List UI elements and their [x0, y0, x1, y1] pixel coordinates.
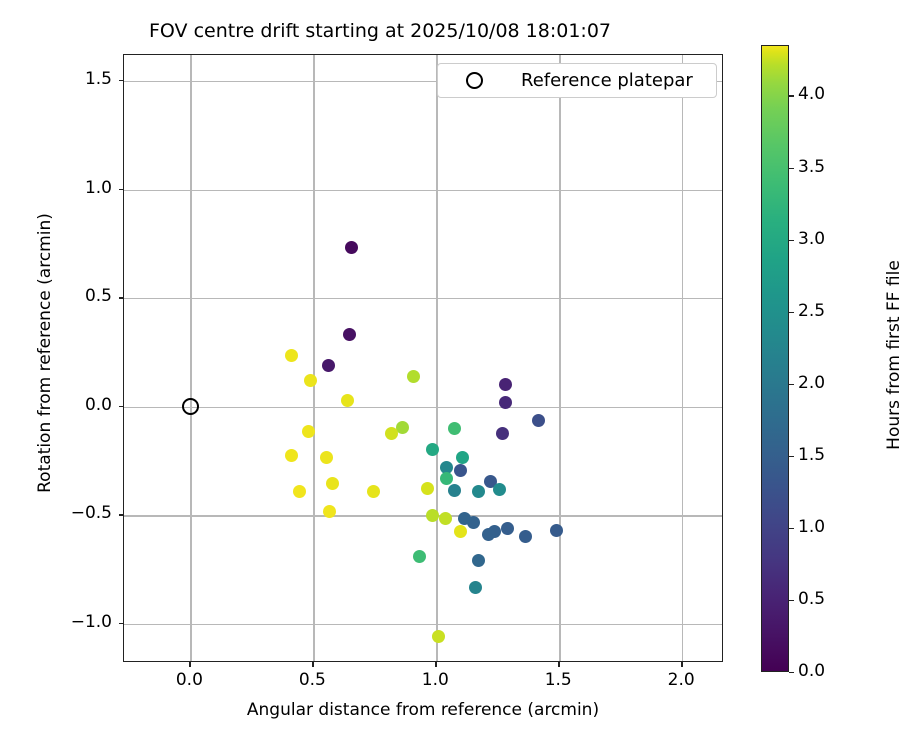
- scatter-point[interactable]: [448, 422, 461, 435]
- colorbar-tick-label: 0.0: [798, 661, 825, 681]
- gridline-horizontal: [124, 298, 722, 299]
- y-tick-mark: [119, 623, 124, 624]
- colorbar-tick-label: 3.5: [798, 157, 825, 177]
- x-tick-mark: [681, 662, 682, 667]
- colorbar-tick-label: 0.5: [798, 589, 825, 609]
- y-tick-mark: [119, 297, 124, 298]
- scatter-point[interactable]: [454, 525, 467, 538]
- scatter-point[interactable]: [519, 530, 532, 543]
- y-tick-mark: [119, 514, 124, 515]
- colorbar-tick-mark: [789, 456, 794, 457]
- scatter-point[interactable]: [407, 370, 420, 383]
- scatter-point[interactable]: [482, 528, 495, 541]
- colorbar-label: Hours from first FF file: [884, 175, 900, 535]
- colorbar-tick-mark: [789, 168, 794, 169]
- gridline-horizontal: [124, 624, 722, 625]
- gridline-horizontal: [124, 190, 722, 191]
- x-tick-mark: [189, 662, 190, 667]
- gridline-vertical: [436, 55, 437, 661]
- scatter-point[interactable]: [326, 477, 339, 490]
- y-tick-mark: [119, 406, 124, 407]
- plot-axes-area: [123, 54, 723, 662]
- scatter-point[interactable]: [432, 630, 445, 643]
- scatter-point[interactable]: [345, 241, 358, 254]
- scatter-point[interactable]: [413, 550, 426, 563]
- x-tick-label: 2.0: [646, 670, 716, 690]
- scatter-point[interactable]: [322, 359, 335, 372]
- colorbar-gradient: [761, 45, 789, 672]
- colorbar-tick-mark: [789, 312, 794, 313]
- legend[interactable]: Reference platepar: [437, 63, 717, 98]
- scatter-point[interactable]: [285, 449, 298, 462]
- gridline-horizontal: [124, 407, 722, 408]
- x-tick-mark: [312, 662, 313, 667]
- scatter-point[interactable]: [456, 451, 469, 464]
- colorbar-tick-label: 1.0: [798, 517, 825, 537]
- scatter-point[interactable]: [458, 512, 471, 525]
- y-tick-label: −1.0: [42, 612, 112, 632]
- figure-canvas: FOV centre drift starting at 2025/10/08 …: [0, 0, 900, 750]
- x-tick-label: 1.5: [523, 670, 593, 690]
- colorbar-tick-mark: [789, 528, 794, 529]
- x-tick-label: 1.0: [400, 670, 470, 690]
- gridline-vertical: [190, 55, 191, 661]
- gridline-horizontal: [124, 515, 722, 516]
- scatter-point[interactable]: [421, 482, 434, 495]
- y-tick-label: 1.5: [42, 69, 112, 89]
- scatter-point[interactable]: [323, 505, 336, 518]
- scatter-point[interactable]: [501, 522, 514, 535]
- colorbar-tick-mark: [789, 240, 794, 241]
- colorbar-tick-label: 1.5: [798, 445, 825, 465]
- scatter-point[interactable]: [472, 485, 485, 498]
- scatter-point[interactable]: [440, 472, 453, 485]
- colorbar-tick-label: 2.0: [798, 373, 825, 393]
- scatter-point[interactable]: [320, 451, 333, 464]
- reference-platepar-marker[interactable]: [182, 398, 199, 415]
- colorbar-tick-label: 2.5: [798, 301, 825, 321]
- scatter-point[interactable]: [499, 378, 512, 391]
- x-tick-label: 0.0: [154, 670, 224, 690]
- x-tick-mark: [435, 662, 436, 667]
- colorbar-tick-label: 4.0: [798, 84, 825, 104]
- scatter-point[interactable]: [367, 485, 380, 498]
- scatter-point[interactable]: [341, 394, 354, 407]
- x-tick-label: 0.5: [277, 670, 347, 690]
- gridline-vertical: [682, 55, 683, 661]
- scatter-point[interactable]: [285, 349, 298, 362]
- scatter-point[interactable]: [304, 374, 317, 387]
- x-axis-label: Angular distance from reference (arcmin): [123, 700, 723, 720]
- colorbar-tick-mark: [789, 95, 794, 96]
- scatter-point[interactable]: [532, 414, 545, 427]
- colorbar-tick-label: 3.0: [798, 229, 825, 249]
- legend-open-circle-icon: [466, 72, 483, 89]
- colorbar-tick-mark: [789, 384, 794, 385]
- scatter-point[interactable]: [493, 483, 506, 496]
- scatter-point[interactable]: [385, 427, 398, 440]
- legend-entry-label: Reference platepar: [521, 70, 693, 91]
- scatter-point[interactable]: [439, 512, 452, 525]
- page-title: FOV centre drift starting at 2025/10/08 …: [0, 20, 760, 42]
- gridline-vertical: [313, 55, 314, 661]
- y-tick-mark: [119, 189, 124, 190]
- scatter-point[interactable]: [343, 328, 356, 341]
- scatter-point[interactable]: [448, 484, 461, 497]
- colorbar-tick-mark: [789, 600, 794, 601]
- colorbar-tick-mark: [789, 672, 794, 673]
- scatter-point[interactable]: [496, 427, 509, 440]
- gridline-vertical: [559, 55, 560, 661]
- scatter-point[interactable]: [472, 554, 485, 567]
- scatter-point[interactable]: [550, 524, 563, 537]
- scatter-point[interactable]: [499, 396, 512, 409]
- scatter-point[interactable]: [293, 485, 306, 498]
- x-tick-mark: [558, 662, 559, 667]
- y-axis-label: Rotation from reference (arcmin): [35, 173, 55, 533]
- scatter-point[interactable]: [469, 581, 482, 594]
- y-tick-mark: [119, 80, 124, 81]
- scatter-point[interactable]: [454, 464, 467, 477]
